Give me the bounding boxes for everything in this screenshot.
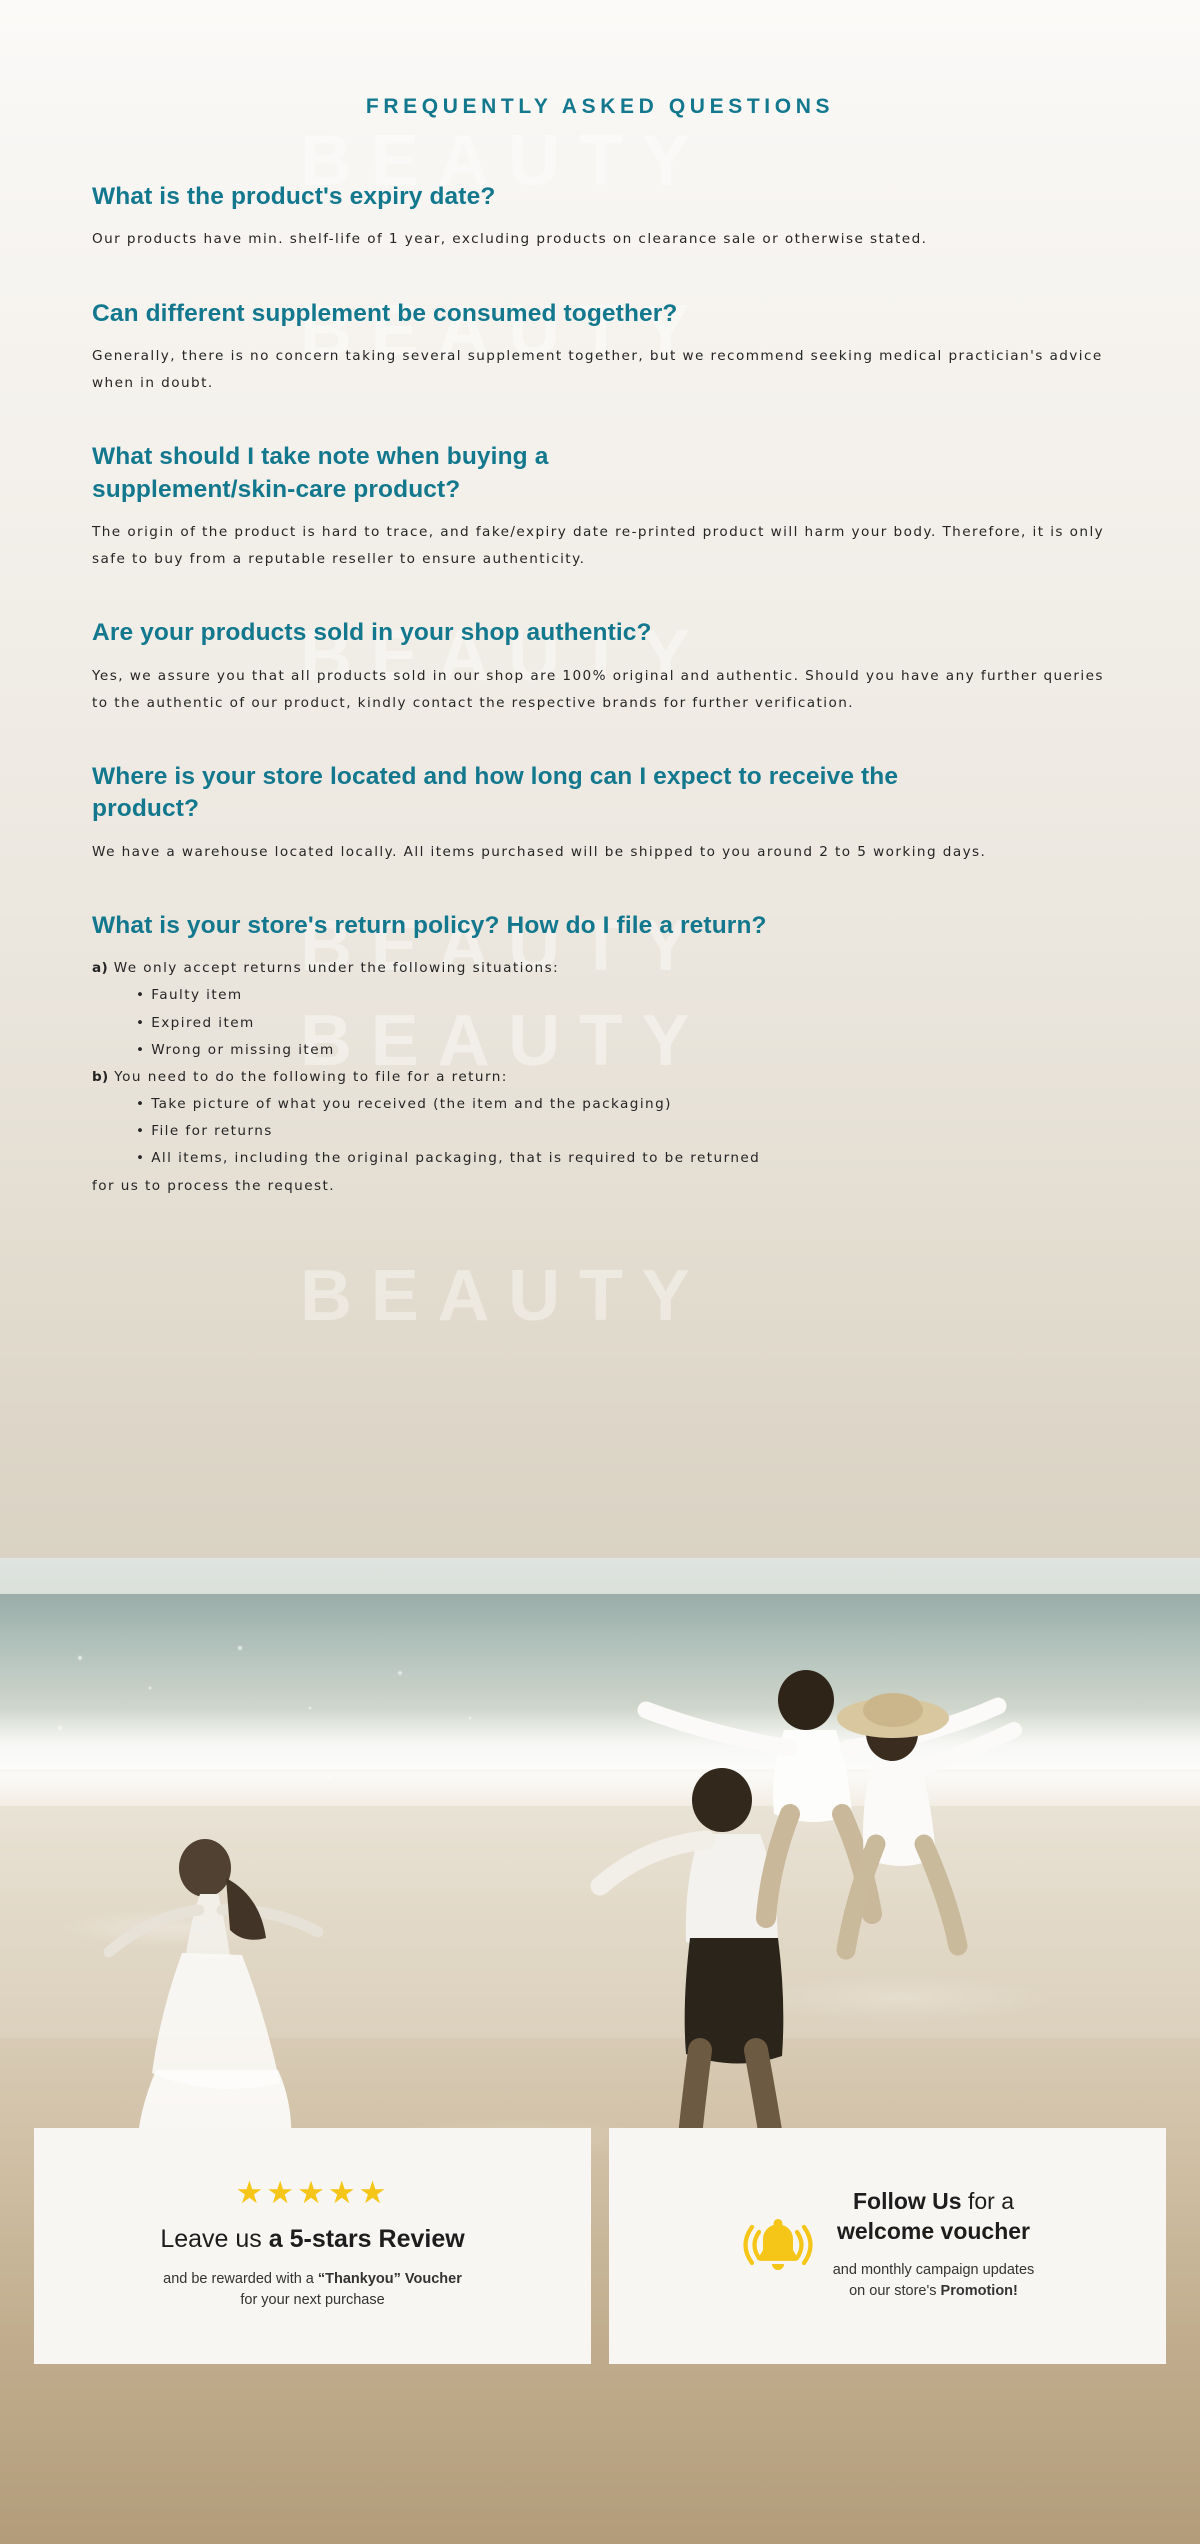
faq-question: Are your products sold in your shop auth… xyxy=(92,617,1108,649)
follow-card-headline: Follow Us for a welcome voucher xyxy=(833,2187,1035,2247)
faq-item-2: Can different supplement be consumed tog… xyxy=(92,298,1108,398)
follow-sub-line-1: and monthly campaign updates xyxy=(833,2262,1035,2278)
review-card[interactable]: ★★★★★ Leave us a 5-stars Review and be r… xyxy=(34,2128,591,2364)
review-headline-bold: a 5-stars Review xyxy=(269,2225,465,2253)
beach-photo: BEAUTY xyxy=(0,1558,1200,2544)
follow-card[interactable]: Follow Us for a welcome voucher and mont… xyxy=(609,2128,1166,2364)
faq-answer: Our products have min. shelf-life of 1 y… xyxy=(92,226,1108,253)
faq-question: What should I take note when buying a su… xyxy=(92,441,732,506)
follow-sub-plain-2: on our store's xyxy=(849,2283,940,2299)
review-headline-plain: Leave us xyxy=(160,2225,268,2253)
review-sub-bold: “Thankyou” Voucher xyxy=(318,2271,462,2287)
list-marker-b: b) xyxy=(92,1069,109,1085)
promo-cards: ★★★★★ Leave us a 5-stars Review and be r… xyxy=(0,2128,1200,2364)
faq-item-5: Where is your store located and how long… xyxy=(92,761,1108,866)
review-card-headline: Leave us a 5-stars Review xyxy=(160,2223,464,2256)
bell-icon xyxy=(741,2210,815,2280)
follow-headline-bold-2: welcome voucher xyxy=(837,2218,1030,2244)
beauty-watermark: BEAUTY xyxy=(300,1255,708,1337)
five-star-rating-icon: ★★★★★ xyxy=(236,2178,390,2209)
faq-question: What is your store's return policy? How … xyxy=(92,910,1108,942)
faq-item-1: What is the product's expiry date? Our p… xyxy=(92,181,1108,254)
returns-closing: for us to process the request. xyxy=(92,1173,1108,1200)
list-text-a: We only accept returns under the followi… xyxy=(114,960,559,976)
faq-question: Where is your store located and how long… xyxy=(92,761,992,826)
faq-question: Can different supplement be consumed tog… xyxy=(92,298,1108,330)
faq-answer: Yes, we assure you that all products sol… xyxy=(92,663,1108,717)
faq-item-returns: What is your store's return policy? How … xyxy=(92,910,1108,1200)
list-marker-a: a) xyxy=(92,960,108,976)
review-sub-plain-1: and be rewarded with a xyxy=(163,2271,318,2287)
faq-answer: Generally, there is no concern taking se… xyxy=(92,343,1108,397)
list-text-b: You need to do the following to file for… xyxy=(114,1069,508,1085)
people-silhouettes xyxy=(0,1558,1200,2544)
returns-group-a: a) We only accept returns under the foll… xyxy=(92,955,1108,982)
page-title: FREQUENTLY ASKED QUESTIONS xyxy=(92,0,1108,119)
faq-answer: We have a warehouse located locally. All… xyxy=(92,839,1108,866)
child-piggyback-with-hat xyxy=(837,1693,1014,1950)
list-item: • File for returns xyxy=(92,1118,1108,1145)
faq-answer: The origin of the product is hard to tra… xyxy=(92,519,1108,573)
faq-item-3: What should I take note when buying a su… xyxy=(92,441,1108,573)
list-item: • Faulty item xyxy=(92,982,1108,1009)
follow-headline-plain-1: for a xyxy=(962,2188,1014,2214)
follow-sub-bold-2: Promotion! xyxy=(941,2283,1018,2299)
follow-card-text: Follow Us for a welcome voucher and mont… xyxy=(833,2187,1035,2303)
review-card-sub: and be rewarded with a “Thankyou” Vouche… xyxy=(163,2269,462,2313)
follow-headline-bold-1: Follow Us xyxy=(853,2188,962,2214)
list-item: • Take picture of what you received (the… xyxy=(92,1091,1108,1118)
faq-section: BEAUTY BEAUTY BEAUTY BEAUTY BEAUTY BEAUT… xyxy=(0,0,1200,1558)
returns-group-b: b) You need to do the following to file … xyxy=(92,1064,1108,1091)
list-item: • All items, including the original pack… xyxy=(92,1145,1108,1172)
faq-question: What is the product's expiry date? xyxy=(92,181,1108,213)
follow-card-sub: and monthly campaign updates on our stor… xyxy=(833,2260,1035,2304)
review-sub-plain-2: for your next purchase xyxy=(240,2292,384,2308)
list-item: • Expired item xyxy=(92,1010,1108,1037)
list-item: • Wrong or missing item xyxy=(92,1037,1108,1064)
faq-item-4: Are your products sold in your shop auth… xyxy=(92,617,1108,717)
